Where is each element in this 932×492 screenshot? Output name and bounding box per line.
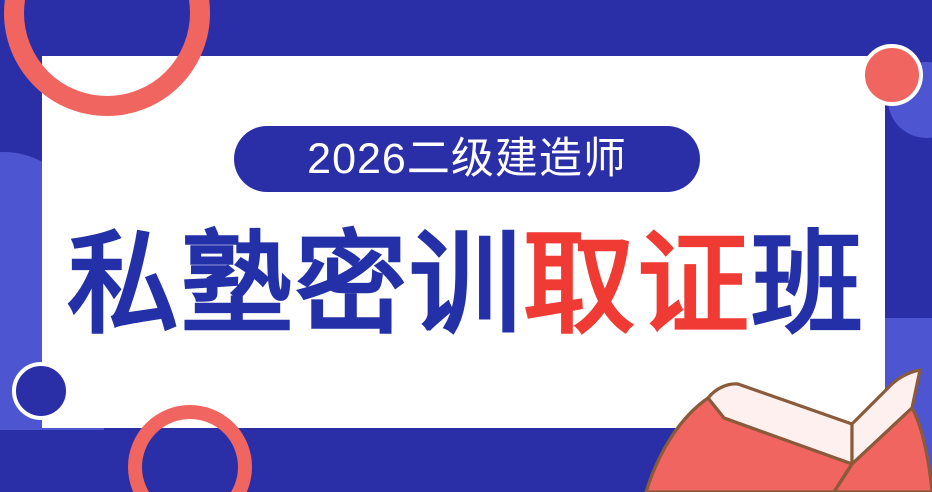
title-segment-3: 班 — [751, 222, 865, 347]
title-segment-1: 私塾密训 — [67, 222, 523, 347]
course-badge-label: 2026二级建造师 — [307, 138, 627, 181]
blue-circle-bottom-left-icon — [12, 362, 70, 420]
course-badge: 2026二级建造师 — [234, 126, 700, 192]
promo-banner: 2026二级建造师 私塾密训取证班 — [0, 0, 932, 492]
coral-circle-top-right-icon — [861, 44, 923, 106]
page-title: 私塾密训取证班 — [0, 222, 932, 348]
title-segment-2: 取证 — [523, 222, 751, 347]
